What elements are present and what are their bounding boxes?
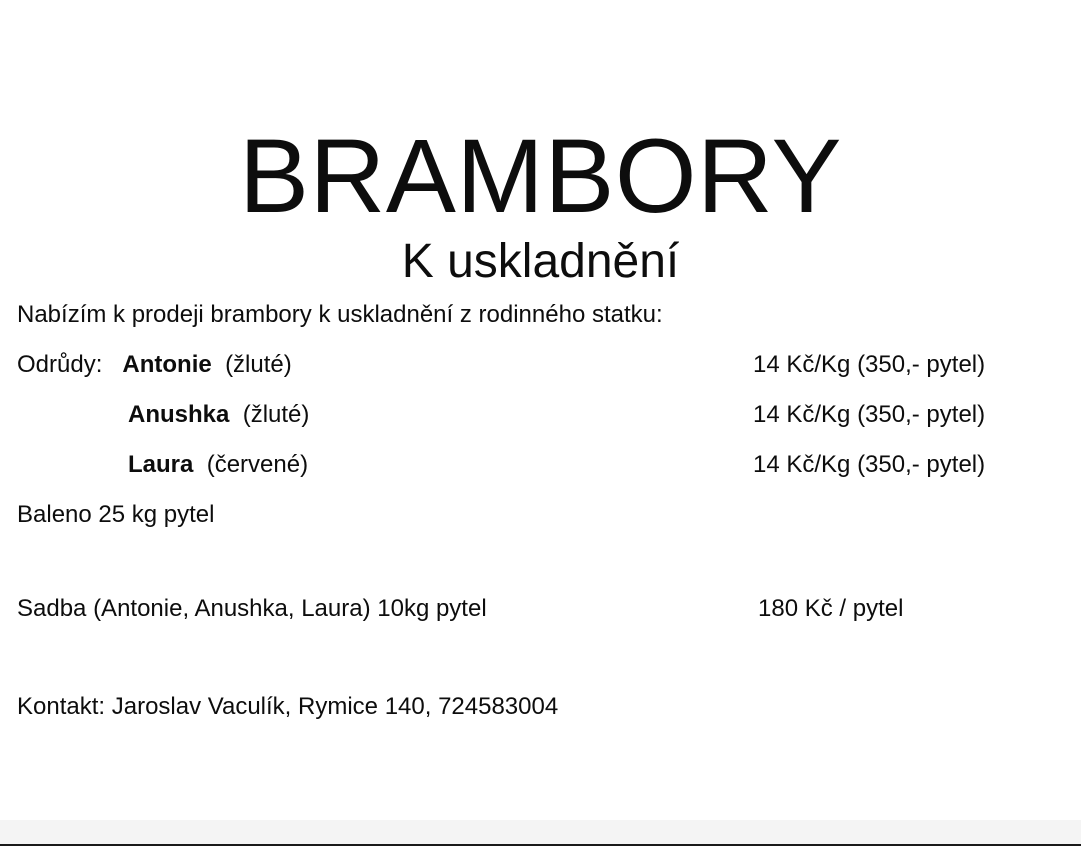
seed-price: 180 Kč / pytel [758,597,903,621]
variety-color-laura: (červené) [207,451,308,478]
packaging-row: Baleno 25 kg pytel [17,503,1067,553]
variety-label-line-antonie: Odrůdy: Antonie (žluté) [17,353,292,377]
contact-row: Kontakt: Jaroslav Vaculík, Rymice 140, 7… [17,695,1067,745]
spacer-after-packaging [17,553,1067,597]
seed-description: Sadba (Antonie, Anushka, Laura) 10kg pyt… [17,597,487,621]
variety-name-laura: Laura [128,451,193,478]
variety-price-anushka: 14 Kč/Kg (350,- pytel) [753,403,985,427]
variety-color-anushka: (žluté) [243,401,310,428]
variety-label-line-anushka: Anushka (žluté) [128,403,309,427]
spacer-after-seed [17,647,1067,695]
variety-row-anushka: Anushka (žluté) 14 Kč/Kg (350,- pytel) [17,403,1067,453]
poster-body: Nabízím k prodeji brambory k uskladnění … [17,303,1067,745]
page-subtitle: K uskladnění [0,236,1081,289]
packaging-text: Baleno 25 kg pytel [17,503,214,527]
page-title: BRAMBORY [0,122,1081,232]
varieties-label: Odrůdy: [17,351,102,378]
variety-name-anushka: Anushka [128,401,229,428]
intro-text: Nabízím k prodeji brambory k uskladnění … [17,303,663,327]
variety-color-antonie: (žluté) [225,351,292,378]
variety-price-antonie: 14 Kč/Kg (350,- pytel) [753,353,985,377]
variety-price-laura: 14 Kč/Kg (350,- pytel) [753,453,985,477]
variety-row-antonie: Odrůdy: Antonie (žluté) 14 Kč/Kg (350,- … [17,353,1067,403]
variety-row-laura: Laura (červené) 14 Kč/Kg (350,- pytel) [17,453,1067,503]
bottom-strip [0,820,1081,844]
seed-row: Sadba (Antonie, Anushka, Laura) 10kg pyt… [17,597,1067,647]
intro-row: Nabízím k prodeji brambory k uskladnění … [17,303,1067,353]
contact-text: Kontakt: Jaroslav Vaculík, Rymice 140, 7… [17,695,558,719]
variety-name-antonie: Antonie [122,351,211,378]
variety-label-line-laura: Laura (červené) [128,453,308,477]
poster-slide: BRAMBORY K uskladnění Nabízím k prodeji … [0,0,1081,820]
